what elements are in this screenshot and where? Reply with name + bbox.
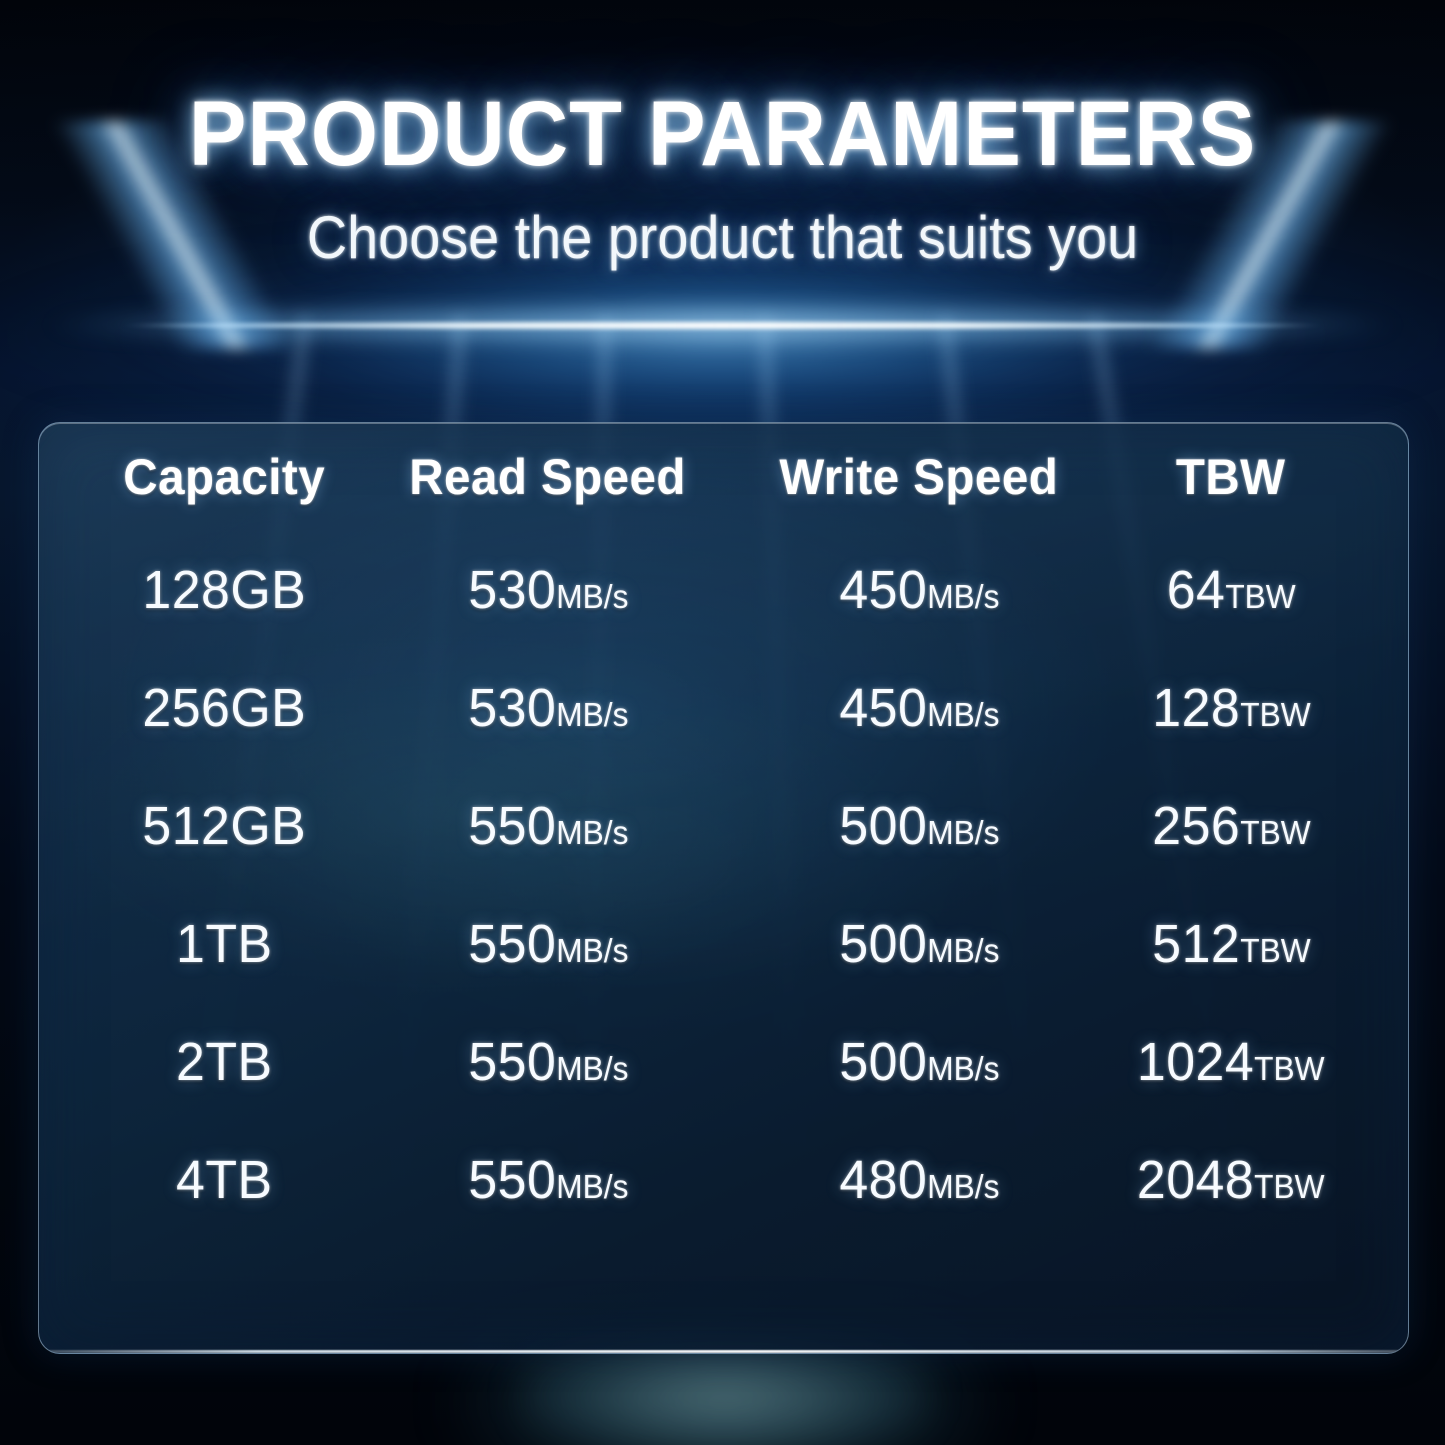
cell-read-speed: 550MB/s: [361, 885, 735, 1003]
page-subtitle: Choose the product that suits you: [51, 187, 1395, 272]
tbw-unit: TBW: [1240, 696, 1310, 733]
cell-tbw: 512TBW: [1103, 885, 1359, 1003]
cell-tbw: 1024TBW: [1103, 1003, 1359, 1121]
column-header-write-speed-label: Write Speed: [780, 448, 1059, 506]
write-speed-value: 500MB/s: [839, 795, 999, 857]
cell-tbw: 64TBW: [1103, 531, 1359, 649]
write-speed-unit: MB/s: [927, 696, 999, 733]
column-header-capacity-label: Capacity: [124, 448, 326, 506]
read-speed-value: 530MB/s: [468, 677, 628, 739]
write-speed-unit: MB/s: [927, 578, 999, 615]
capacity-value: 2TB: [176, 1031, 273, 1093]
tbw-value: 1024TBW: [1137, 1031, 1325, 1093]
column-header-tbw-label: TBW: [1176, 448, 1286, 506]
cell-write-speed: 500MB/s: [735, 1003, 1103, 1121]
cell-write-speed: 500MB/s: [735, 767, 1103, 885]
write-speed-value: 450MB/s: [839, 559, 999, 621]
table-row: 2TB 550MB/s 500MB/s 1024TBW: [88, 1003, 1359, 1121]
capacity-value: 1TB: [176, 913, 273, 975]
column-header-capacity: Capacity: [88, 423, 361, 531]
read-speed-unit: MB/s: [556, 1168, 628, 1205]
cell-capacity: 128GB: [88, 531, 361, 649]
read-speed-unit: MB/s: [556, 932, 628, 969]
cell-read-speed: 550MB/s: [361, 1003, 735, 1121]
bottom-bloom-core: [520, 1352, 930, 1445]
tbw-unit: TBW: [1254, 1168, 1324, 1205]
horizon-line: [120, 322, 1325, 329]
tbw-unit: TBW: [1240, 932, 1310, 969]
write-speed-value: 450MB/s: [839, 677, 999, 739]
page-title: PRODUCT PARAMETERS: [43, 0, 1401, 187]
table-row: 256GB 530MB/s 450MB/s 128TBW: [88, 649, 1359, 767]
cell-write-speed: 500MB/s: [735, 885, 1103, 1003]
tbw-value: 512TBW: [1152, 913, 1310, 975]
write-speed-value: 500MB/s: [839, 913, 999, 975]
read-speed-value: 530MB/s: [468, 559, 628, 621]
cell-write-speed: 450MB/s: [735, 531, 1103, 649]
tbw-unit: TBW: [1254, 1050, 1324, 1087]
cell-read-speed: 550MB/s: [361, 1121, 735, 1239]
table-row: 128GB 530MB/s 450MB/s 64TBW: [88, 531, 1359, 649]
table-row: 512GB 550MB/s 500MB/s 256TBW: [88, 767, 1359, 885]
write-speed-value: 480MB/s: [839, 1149, 999, 1211]
panel-bottom-highlight: [39, 1350, 1408, 1353]
read-speed-value: 550MB/s: [468, 913, 628, 975]
cell-read-speed: 550MB/s: [361, 767, 735, 885]
tbw-value: 256TBW: [1152, 795, 1310, 857]
read-speed-unit: MB/s: [556, 696, 628, 733]
table-header-row: Capacity Read Speed Write Speed TBW: [88, 423, 1359, 531]
capacity-value: 128GB: [143, 559, 307, 621]
table-row: 4TB 550MB/s 480MB/s 2048TBW: [88, 1121, 1359, 1239]
read-speed-unit: MB/s: [556, 578, 628, 615]
cell-capacity: 256GB: [88, 649, 361, 767]
spec-table-body: 128GB 530MB/s 450MB/s 64TBW 256GB: [88, 531, 1359, 1239]
write-speed-unit: MB/s: [927, 814, 999, 851]
tbw-unit: TBW: [1225, 578, 1295, 615]
spec-table-panel: Capacity Read Speed Write Speed TBW: [38, 422, 1409, 1354]
write-speed-unit: MB/s: [927, 932, 999, 969]
capacity-value: 4TB: [176, 1149, 273, 1211]
cell-capacity: 4TB: [88, 1121, 361, 1239]
capacity-value: 512GB: [143, 795, 307, 857]
read-speed-unit: MB/s: [556, 1050, 628, 1087]
cell-capacity: 2TB: [88, 1003, 361, 1121]
read-speed-value: 550MB/s: [468, 1031, 628, 1093]
column-header-write-speed: Write Speed: [735, 423, 1103, 531]
write-speed-value: 500MB/s: [839, 1031, 999, 1093]
cell-write-speed: 450MB/s: [735, 649, 1103, 767]
read-speed-value: 550MB/s: [468, 795, 628, 857]
product-parameters-banner: PRODUCT PARAMETERS Choose the product th…: [0, 0, 1445, 1445]
cell-tbw: 128TBW: [1103, 649, 1359, 767]
read-speed-value: 550MB/s: [468, 1149, 628, 1211]
tbw-value: 128TBW: [1152, 677, 1310, 739]
cell-capacity: 512GB: [88, 767, 361, 885]
cell-read-speed: 530MB/s: [361, 531, 735, 649]
cell-read-speed: 530MB/s: [361, 649, 735, 767]
column-header-tbw: TBW: [1103, 423, 1359, 531]
write-speed-unit: MB/s: [927, 1050, 999, 1087]
tbw-unit: TBW: [1240, 814, 1310, 851]
table-row: 1TB 550MB/s 500MB/s 512TBW: [88, 885, 1359, 1003]
tbw-value: 64TBW: [1166, 559, 1295, 621]
capacity-value: 256GB: [143, 677, 307, 739]
spec-table: Capacity Read Speed Write Speed TBW: [88, 423, 1359, 1239]
spec-table-header: Capacity Read Speed Write Speed TBW: [88, 423, 1359, 531]
cell-tbw: 2048TBW: [1103, 1121, 1359, 1239]
column-header-read-speed-label: Read Speed: [410, 448, 687, 506]
cell-write-speed: 480MB/s: [735, 1121, 1103, 1239]
read-speed-unit: MB/s: [556, 814, 628, 851]
tbw-value: 2048TBW: [1137, 1149, 1325, 1211]
horizon-line-glow: [40, 312, 1405, 338]
cell-capacity: 1TB: [88, 885, 361, 1003]
column-header-read-speed: Read Speed: [361, 423, 735, 531]
banner-header: PRODUCT PARAMETERS Choose the product th…: [0, 0, 1445, 272]
cell-tbw: 256TBW: [1103, 767, 1359, 885]
write-speed-unit: MB/s: [927, 1168, 999, 1205]
